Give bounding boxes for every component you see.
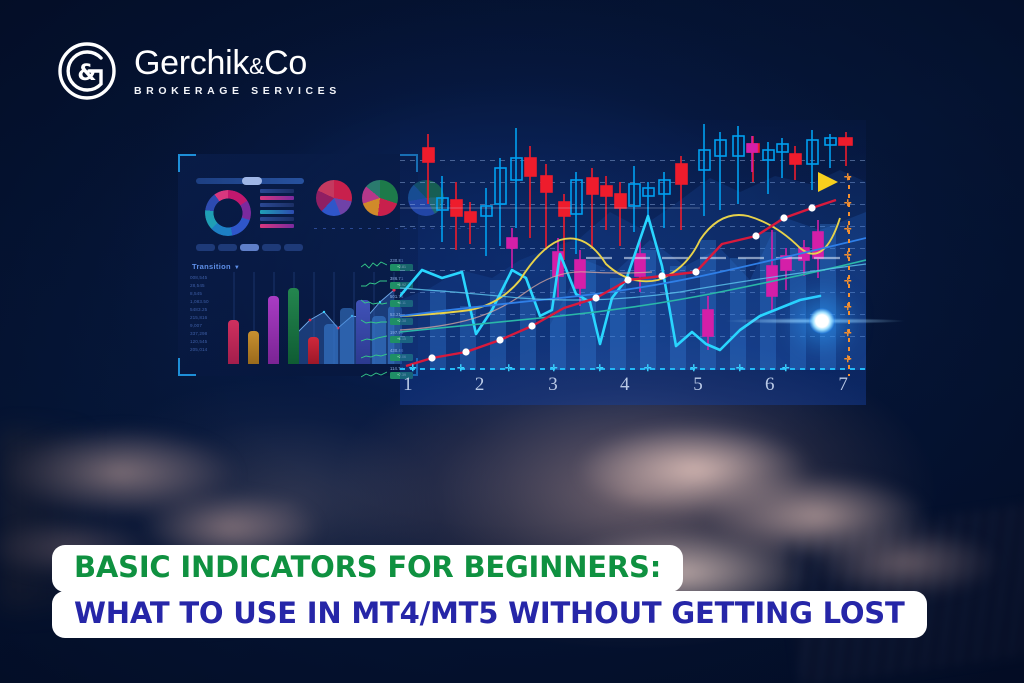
orange-plus-marker: ✛ xyxy=(844,276,852,287)
bar xyxy=(340,308,354,364)
x-axis-tick-label: 7 xyxy=(838,374,848,396)
holographic-display: Transition▼ 008,54528,5458,5451,083.5054… xyxy=(178,120,888,405)
bar-chart-y-label: 9,007 xyxy=(190,322,220,330)
sparkline-icon xyxy=(361,314,387,325)
logo-wordmark: Gerchik&Co BROKERAGE SERVICES xyxy=(134,46,341,97)
bar-chart-y-label: 337,298 xyxy=(190,330,220,338)
page-title-line2: WHAT TO USE IN MT4/MT5 WITHOUT GETTING L… xyxy=(74,596,905,630)
orange-plus-marker: ✛ xyxy=(844,198,852,209)
range-slider-track[interactable] xyxy=(196,178,304,184)
donut-chart-card xyxy=(196,178,304,240)
brand-logo: & Gerchik&Co BROKERAGE SERVICES xyxy=(56,40,341,102)
logo-ampersand: & xyxy=(249,53,264,79)
legend-row xyxy=(260,217,294,221)
period-pill-year[interactable] xyxy=(262,244,281,251)
svg-text:&: & xyxy=(77,61,96,86)
axis-tick-marker: ✛ xyxy=(690,363,698,374)
page-title-line1: BASIC INDICATORS FOR BEGINNERS: xyxy=(74,550,661,584)
logo-name-part2: Co xyxy=(264,44,307,82)
legend-row xyxy=(260,196,294,200)
pie-chart-1 xyxy=(316,180,352,216)
bar-chart-y-label: 1,083.50 xyxy=(190,298,220,306)
bar xyxy=(228,320,239,364)
bar xyxy=(308,337,319,364)
period-pill-month[interactable] xyxy=(240,244,259,251)
logo-name-part1: Gerchik xyxy=(134,44,249,82)
panel-corner-tl xyxy=(178,154,196,172)
orange-plus-marker: ✛ xyxy=(844,302,852,313)
orange-plus-marker: ✛ xyxy=(844,250,852,261)
x-axis-tick-label: 3 xyxy=(548,374,558,396)
bar xyxy=(268,296,279,364)
range-slider-knob[interactable] xyxy=(242,177,262,185)
legend-row xyxy=(260,210,294,214)
bar-chart-y-label: 28,545 xyxy=(190,282,220,290)
period-toggle-group[interactable] xyxy=(196,244,303,251)
bar-chart-y-label: 120,545 xyxy=(190,338,220,346)
candles-layer xyxy=(400,120,866,405)
x-axis-tick-label: 5 xyxy=(693,374,703,396)
bar-chart-y-label: 8,545 xyxy=(190,290,220,298)
bar xyxy=(288,288,299,364)
title-banner-line1: BASIC INDICATORS FOR BEGINNERS: xyxy=(52,545,683,592)
donut-legend xyxy=(260,189,294,231)
bar-chart-y-axis: 008,54528,5458,5451,083.505483.25215,816… xyxy=(190,274,220,354)
x-axis-labels: 1234567 xyxy=(400,374,866,400)
period-pill-day[interactable] xyxy=(196,244,215,251)
x-axis-tick-label: 6 xyxy=(765,374,775,396)
panel-corner-bl xyxy=(178,358,196,376)
sparkline-icon xyxy=(361,332,387,343)
sparkline-icon xyxy=(361,350,387,361)
title-banner-line2: WHAT TO USE IN MT4/MT5 WITHOUT GETTING L… xyxy=(52,591,927,638)
axis-tick-marker: ✛ xyxy=(550,363,558,374)
axis-tick-marker: ✛ xyxy=(505,363,513,374)
candlestick-chart: ✛ ✛ ✛ ✛ ✛ ✛ ✛ ✛ ✛ ✛ ✛ ✛ ✛ ✛ ✛ ✛ ✛ 123456… xyxy=(400,120,866,405)
period-pill-week[interactable] xyxy=(218,244,237,251)
gerchik-monogram-icon: & xyxy=(56,40,118,102)
dashboard-series-label: Transition xyxy=(192,262,231,271)
chevron-down-icon: ▼ xyxy=(234,265,240,271)
axis-tick-marker: ✛ xyxy=(736,363,744,374)
axis-tick-marker: ✛ xyxy=(596,363,604,374)
dashboard-series-selector[interactable]: Transition▼ xyxy=(192,262,240,271)
sparkline-icon xyxy=(361,260,387,271)
logo-company-name: Gerchik&Co xyxy=(134,46,341,80)
article-title-block: BASIC INDICATORS FOR BEGINNERS: WHAT TO … xyxy=(52,545,1024,638)
axis-tick-marker: ✛ xyxy=(644,363,652,374)
legend-row xyxy=(260,203,294,207)
legend-row xyxy=(260,224,294,228)
bar xyxy=(324,324,338,364)
axis-tick-marker: ✛ xyxy=(409,363,417,374)
orange-plus-marker: ✛ xyxy=(844,172,852,183)
bar-chart-y-label: 5483.25 xyxy=(190,306,220,314)
axis-tick-marker: ✛ xyxy=(457,363,465,374)
axis-tick-marker: ✛ xyxy=(782,363,790,374)
x-axis-tick-label: 2 xyxy=(475,374,485,396)
bar-chart-y-label: 215,816 xyxy=(190,314,220,322)
x-axis-line xyxy=(400,368,866,370)
analytics-dashboard-panel: Transition▼ 008,54528,5458,5451,083.5054… xyxy=(178,154,418,376)
logo-tagline: BROKERAGE SERVICES xyxy=(134,86,341,97)
donut-chart xyxy=(205,190,251,236)
x-axis-tick-label: 4 xyxy=(620,374,630,396)
sparkline-icon xyxy=(361,368,387,379)
bar-chart-y-label: 008,545 xyxy=(190,274,220,282)
sparkline-icon xyxy=(361,296,387,307)
bar-chart-y-label: 205,014 xyxy=(190,346,220,354)
orange-plus-marker: ✛ xyxy=(844,328,852,339)
highlight-glow-dot xyxy=(809,308,835,334)
bar xyxy=(248,331,259,364)
x-axis-tick-label: 1 xyxy=(403,374,413,396)
orange-plus-marker: ✛ xyxy=(844,354,852,365)
period-pill-all[interactable] xyxy=(284,244,303,251)
pie-chart-2 xyxy=(362,180,398,216)
yellow-arrow-marker xyxy=(818,172,838,192)
orange-plus-marker: ✛ xyxy=(844,224,852,235)
sparkline-icon xyxy=(361,278,387,289)
legend-row xyxy=(260,189,294,193)
